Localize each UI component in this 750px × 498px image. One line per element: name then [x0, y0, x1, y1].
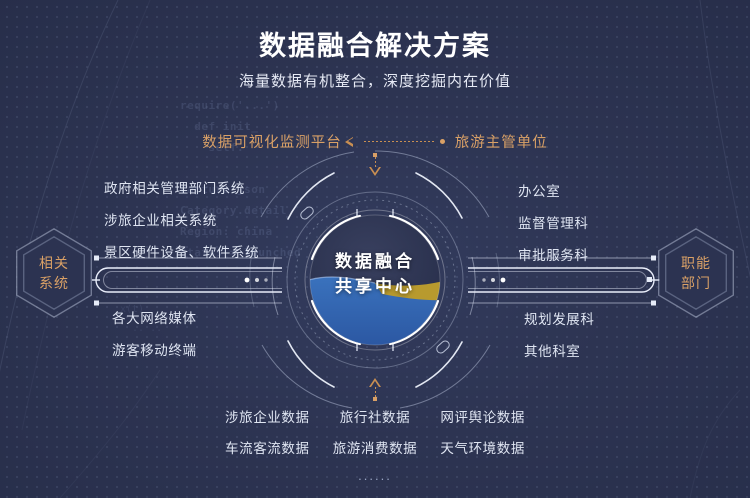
list-item: 审批服务科: [518, 244, 589, 264]
hexagon-right-line2: 部门: [681, 274, 711, 292]
dashed-arrow-left-icon: [352, 137, 445, 147]
list-item: 各大网络媒体: [112, 307, 197, 327]
hexagon-left-line2: 系统: [39, 274, 69, 292]
center-line-2: 共享中心: [242, 274, 508, 299]
table-row: 车流客流数据 旅游消费数据 天气环境数据: [225, 437, 525, 457]
list-item: 景区硬件设备、软件系统: [104, 241, 259, 261]
hexagon-right-text: 职能 部门: [658, 228, 734, 318]
center-sphere-label: 数据融合 共享中心: [242, 249, 508, 299]
ellipsis-label: ......: [225, 468, 525, 483]
list-item: 政府相关管理部门系统: [104, 177, 259, 197]
page-subtitle: 海量数据有机整合，深度挖掘内在价值: [0, 70, 750, 91]
hexagon-functional-departments[interactable]: 职能 部门: [658, 228, 734, 318]
bottom-data-source-grid: 涉旅企业数据 旅行社数据 网评舆论数据 车流客流数据 旅游消费数据 天气环境数据…: [225, 406, 525, 483]
hexagon-related-systems[interactable]: 相关 系统: [16, 228, 92, 318]
right-top-label-group: 办公室 监督管理科 审批服务科: [518, 180, 589, 276]
right-bottom-label-group: 规划发展科 其他科室: [524, 308, 595, 372]
list-item: 车流客流数据: [225, 437, 310, 457]
center-line-1: 数据融合: [242, 249, 508, 274]
list-item: 规划发展科: [524, 308, 595, 328]
left-top-label-group: 政府相关管理部门系统 涉旅企业相关系统 景区硬件设备、软件系统: [104, 177, 259, 273]
list-item: 其他科室: [524, 340, 595, 360]
infographic-canvas: require('...') def init_ self. Capture.j…: [0, 0, 750, 498]
list-item: 监督管理科: [518, 212, 589, 232]
left-bottom-label-group: 各大网络媒体 游客移动终端: [112, 307, 197, 371]
hexagon-left-line1: 相关: [39, 254, 69, 272]
list-item: 旅游消费数据: [333, 437, 418, 457]
list-item: 涉旅企业相关系统: [104, 209, 259, 229]
data-fusion-center-graphic[interactable]: 数据融合 共享中心: [242, 147, 508, 413]
list-item: 办公室: [518, 180, 589, 200]
list-item: 天气环境数据: [440, 437, 525, 457]
list-item: 游客移动终端: [112, 339, 197, 359]
page-title: 数据融合解决方案: [0, 24, 750, 63]
hexagon-left-text: 相关 系统: [16, 228, 92, 318]
hexagon-right-line1: 职能: [681, 254, 711, 272]
